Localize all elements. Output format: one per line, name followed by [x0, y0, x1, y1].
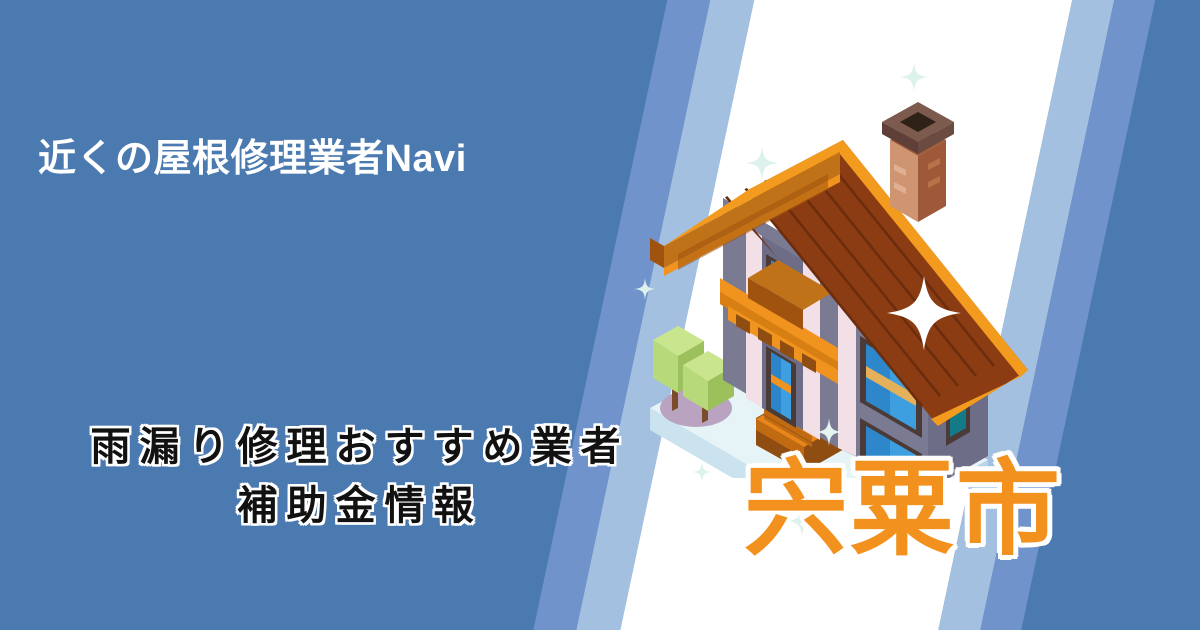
headline-line-2: 補助金情報	[0, 477, 720, 536]
headline-line-1: 雨漏り修理おすすめ業者	[0, 418, 720, 477]
chimney	[882, 102, 954, 222]
city-name: 宍粟市	[744, 452, 1062, 568]
sparkle-lower-mid-icon	[815, 418, 843, 446]
site-title: 近くの屋根修理業者Navi	[38, 137, 467, 183]
headline: 雨漏り修理おすすめ業者 補助金情報	[0, 418, 720, 536]
banner-image: 近くの屋根修理業者Navi 雨漏り修理おすすめ業者 補助金情報 宍粟市	[0, 0, 1200, 630]
